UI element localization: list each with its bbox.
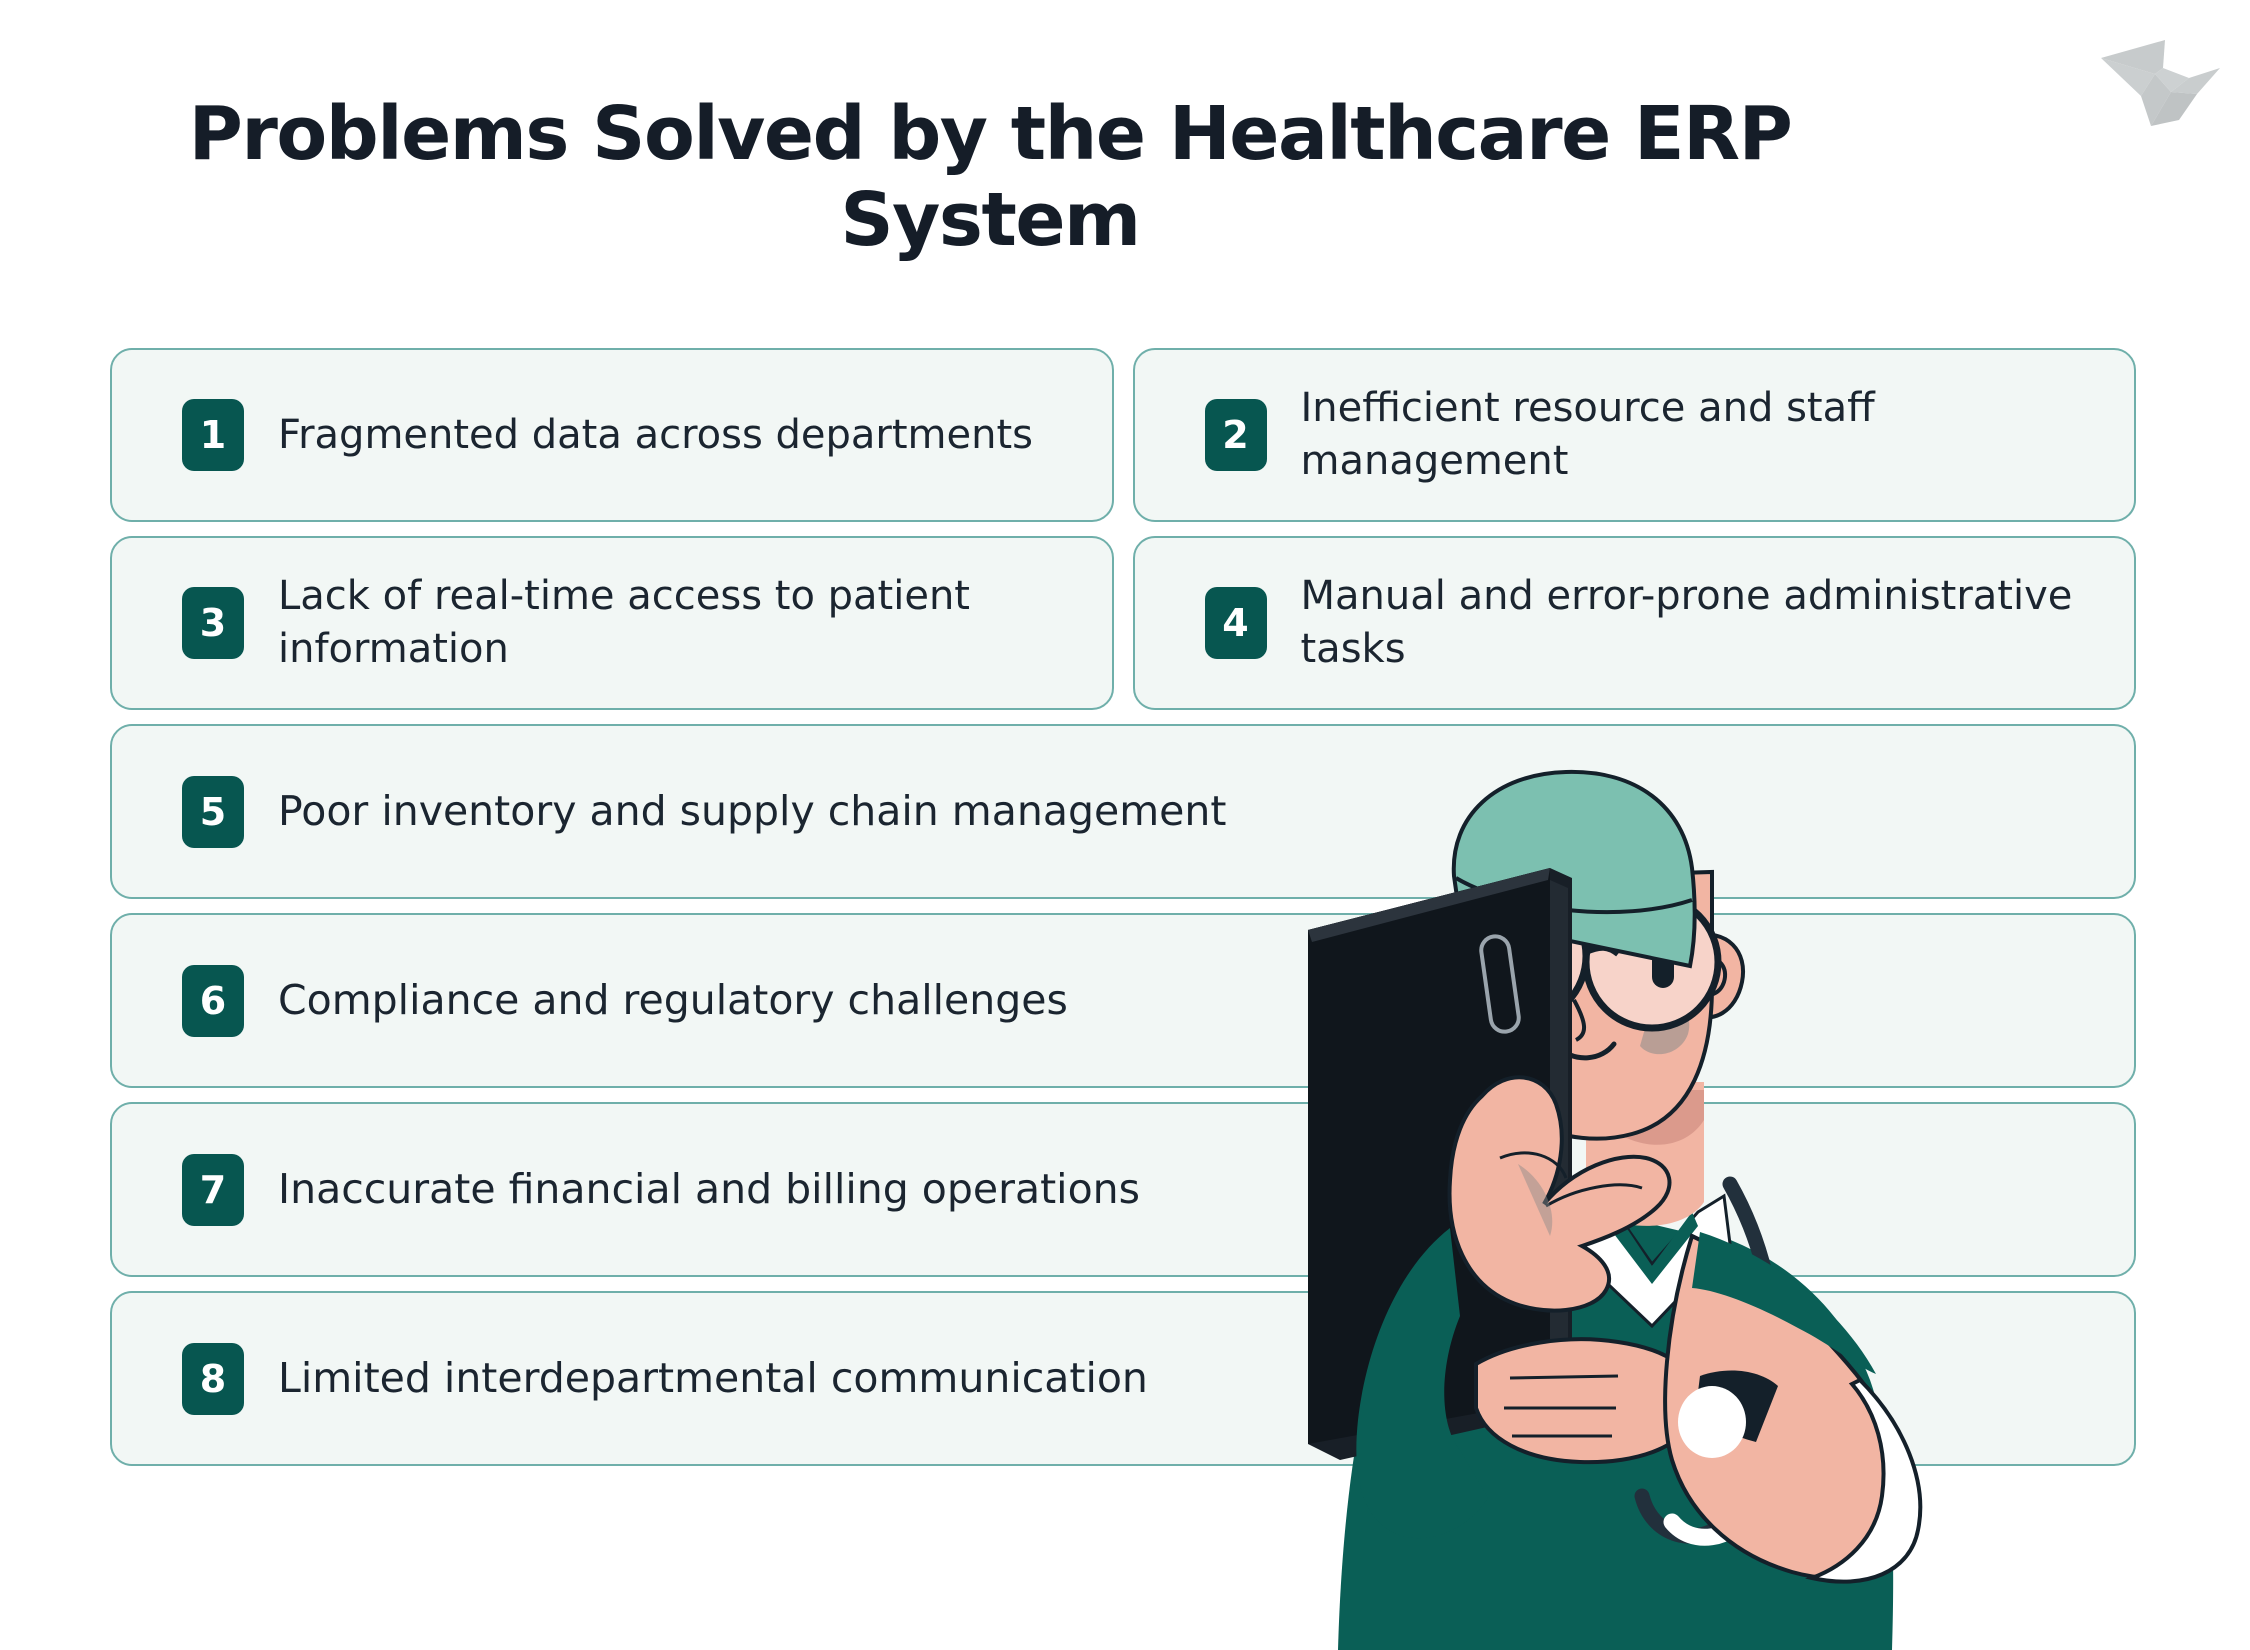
problem-number-badge: 5 bbox=[182, 776, 244, 848]
problems-row-4: 6 Compliance and regulatory challenges bbox=[110, 913, 2136, 1088]
problem-card-5[interactable]: 5 Poor inventory and supply chain manage… bbox=[110, 724, 2136, 899]
problem-label: Limited interdepartmental communication bbox=[278, 1351, 1178, 1405]
problems-row-6: 8 Limited interdepartmental communicatio… bbox=[110, 1291, 2136, 1466]
problem-number-badge: 8 bbox=[182, 1343, 244, 1415]
brand-logo bbox=[2093, 22, 2228, 142]
problem-label: Inaccurate financial and billing operati… bbox=[278, 1162, 1170, 1216]
page-title: Problems Solved by the Healthcare ERP Sy… bbox=[170, 92, 1810, 264]
problem-label: Inefficient resource and staff managemen… bbox=[1301, 382, 2135, 488]
problems-row-3: 5 Poor inventory and supply chain manage… bbox=[110, 724, 2136, 899]
problem-card-6[interactable]: 6 Compliance and regulatory challenges bbox=[110, 913, 2136, 1088]
problem-number-badge: 1 bbox=[182, 399, 244, 471]
problem-number-badge: 3 bbox=[182, 587, 244, 659]
problem-label: Poor inventory and supply chain manageme… bbox=[278, 784, 1256, 838]
problem-label: Fragmented data across departments bbox=[278, 409, 1063, 462]
problems-list: 1 Fragmented data across departments 2 I… bbox=[110, 348, 2136, 1480]
problem-card-1[interactable]: 1 Fragmented data across departments bbox=[110, 348, 1114, 522]
problems-row-2: 3 Lack of real-time access to patient in… bbox=[110, 536, 2136, 710]
origami-bird-logo bbox=[2101, 40, 2220, 126]
page-title-line-1: Problems Solved by the Healthcare ERP bbox=[189, 91, 1792, 177]
problem-card-7[interactable]: 7 Inaccurate financial and billing opera… bbox=[110, 1102, 2136, 1277]
problem-label: Compliance and regulatory challenges bbox=[278, 973, 1098, 1027]
problem-card-8[interactable]: 8 Limited interdepartmental communicatio… bbox=[110, 1291, 2136, 1466]
problem-card-4[interactable]: 4 Manual and error-prone administrative … bbox=[1133, 536, 2137, 710]
problems-row-1: 1 Fragmented data across departments 2 I… bbox=[110, 348, 2136, 522]
page-title-line-2: System bbox=[840, 177, 1139, 263]
problem-card-2[interactable]: 2 Inefficient resource and staff managem… bbox=[1133, 348, 2137, 522]
problem-number-badge: 6 bbox=[182, 965, 244, 1037]
problem-label: Lack of real-time access to patient info… bbox=[278, 570, 1112, 676]
problems-row-5: 7 Inaccurate financial and billing opera… bbox=[110, 1102, 2136, 1277]
problem-number-badge: 2 bbox=[1205, 399, 1267, 471]
problem-number-badge: 7 bbox=[182, 1154, 244, 1226]
problem-label: Manual and error-prone administrative ta… bbox=[1301, 570, 2135, 676]
problem-card-3[interactable]: 3 Lack of real-time access to patient in… bbox=[110, 536, 1114, 710]
problem-number-badge: 4 bbox=[1205, 587, 1267, 659]
